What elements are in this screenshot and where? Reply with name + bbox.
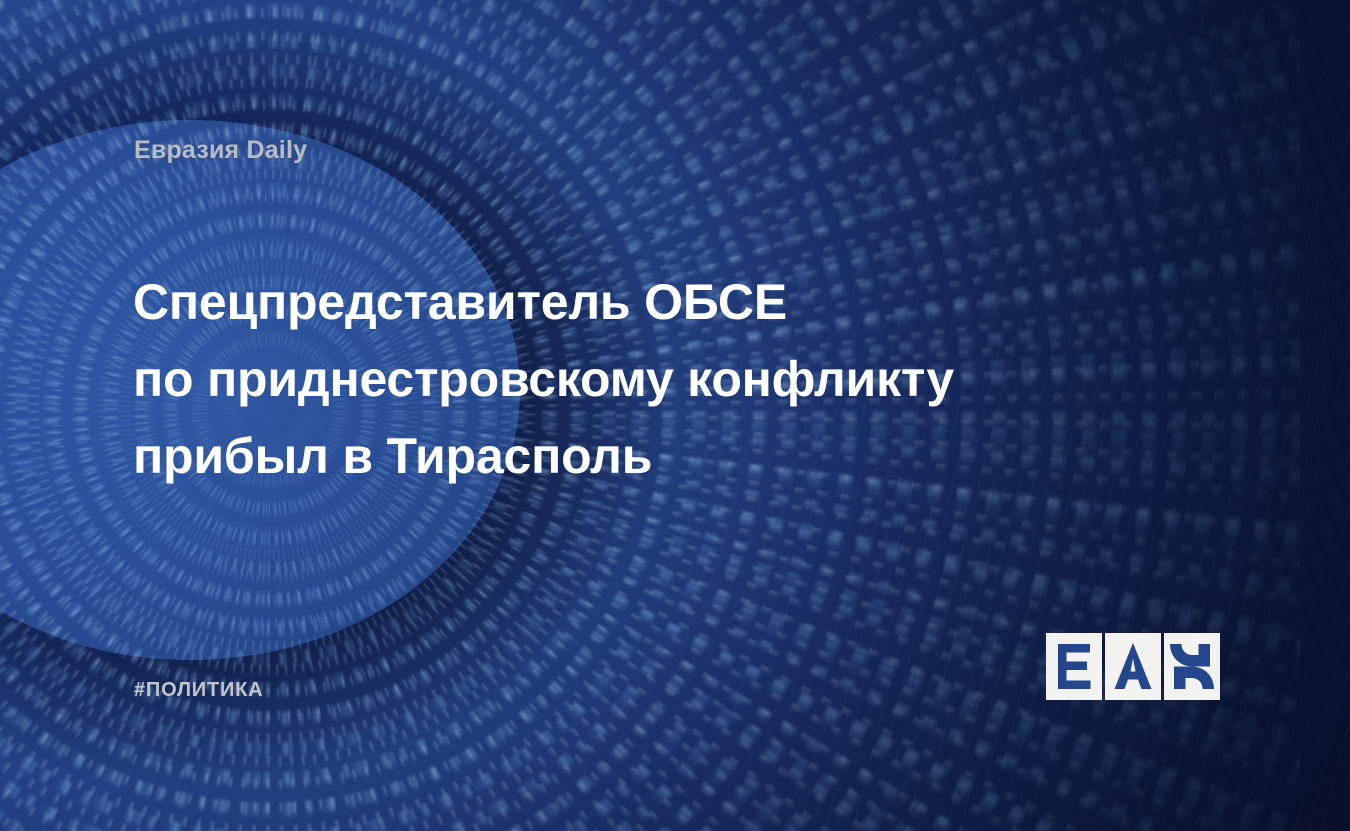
ead-logo — [1046, 633, 1220, 700]
headline-line-2: по приднестровскому конфликту — [133, 341, 1113, 418]
letter-e-icon — [1046, 633, 1102, 700]
ead-logo-tile-a — [1105, 633, 1161, 700]
headline-line-1: Спецпредставитель ОБСЕ — [133, 264, 1113, 341]
ead-logo-tile-d — [1164, 633, 1220, 700]
letter-a-icon — [1105, 633, 1161, 700]
news-share-card: Евразия Daily Спецпредставитель ОБСЕ по … — [0, 0, 1350, 831]
ead-logo-tile-e — [1046, 633, 1102, 700]
headline-line-3: прибыл в Тирасполь — [133, 418, 1113, 495]
letter-d-rotated-icon — [1164, 633, 1220, 700]
brand-wordmark: Евразия Daily — [134, 136, 307, 165]
category-tag: #ПОЛИТИКА — [134, 679, 263, 702]
card-content: Евразия Daily Спецпредставитель ОБСЕ по … — [0, 0, 1350, 831]
headline: Спецпредставитель ОБСЕ по приднестровско… — [133, 264, 1113, 495]
